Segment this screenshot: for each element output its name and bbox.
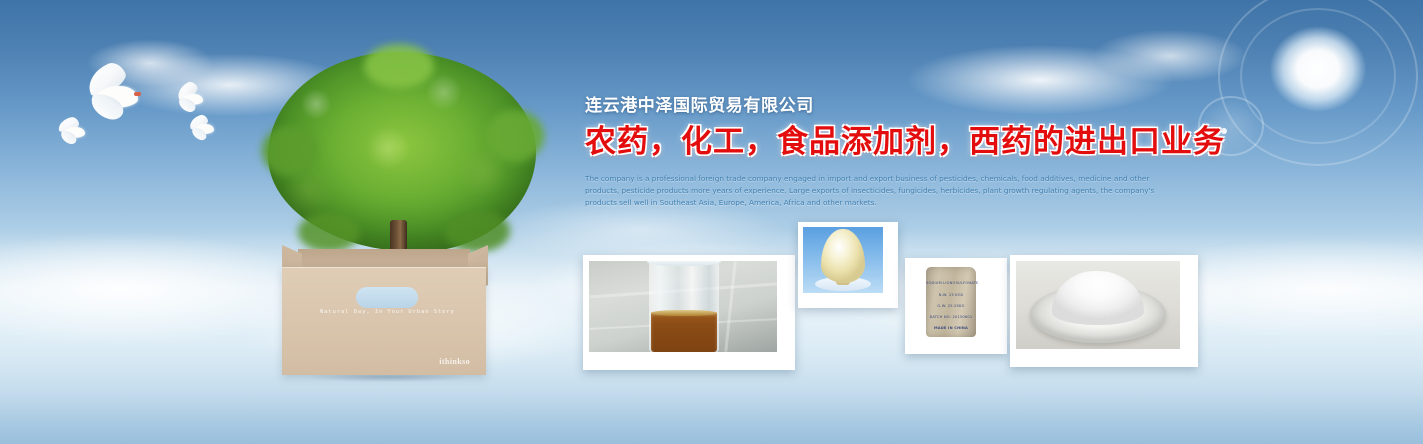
dove-small-lower-icon [54, 118, 88, 144]
bag-label-made-in-china: MADE IN CHINA [926, 326, 976, 330]
photo-image-kraft-bag: SODIUM LIGNOSULFONATE N.W. 25 KGS G.W. 2… [910, 263, 992, 339]
cloud-top-left [60, 15, 400, 135]
tree-leaf-cluster [364, 44, 434, 88]
dove-small-right-icon [186, 116, 216, 140]
bag-label-line: G.W. 25.25KG [926, 304, 976, 308]
banner-text-block: 连云港中泽国际贸易有限公司 农药，化工，食品添加剂，西药的进出口业务 The c… [585, 96, 1195, 208]
sun-icon [1228, 0, 1408, 144]
banner-description: The company is a professional foreign tr… [585, 173, 1181, 208]
liquid-surface [651, 310, 717, 316]
product-photo-yellow-powder[interactable] [798, 222, 898, 308]
product-photo-white-powder[interactable] [1010, 255, 1198, 367]
cardboard-box: Natural Day, In Your Urban Story ithinks… [272, 245, 496, 375]
product-photo-brown-liquid-jar[interactable] [583, 255, 795, 370]
photo-image-yellow-powder [803, 227, 883, 293]
bag-label-line: N.W. 25 KGS [926, 293, 976, 297]
dove-large-icon [78, 68, 150, 124]
lens-flare-ring-inner [1240, 8, 1396, 144]
tree-leaf-cluster [262, 126, 318, 176]
bag-label-line: SODIUM LIGNOSULFONATE [926, 281, 976, 285]
bag-label-line: BATCH NO: 20150601 [926, 315, 976, 319]
box-handle-cutout [356, 287, 418, 308]
product-photo-kraft-bag[interactable]: SODIUM LIGNOSULFONATE N.W. 25 KGS G.W. 2… [905, 258, 1007, 354]
green-tree [268, 52, 536, 267]
white-powder-pile [1052, 271, 1144, 325]
tree-leaf-cluster [486, 110, 544, 162]
brown-liquid [651, 313, 717, 352]
box-slogan: Natural Day, In Your Urban Story [320, 309, 455, 315]
dove-small-upper-icon [172, 84, 206, 112]
lens-flare-ring-outer [1218, 0, 1418, 166]
tree-canopy [268, 52, 536, 252]
yellow-powder-pile [821, 229, 865, 283]
box-front-panel: Natural Day, In Your Urban Story ithinks… [282, 267, 486, 375]
hero-banner: Natural Day, In Your Urban Story ithinks… [0, 0, 1423, 444]
company-name: 连云港中泽国际贸易有限公司 [585, 96, 1195, 116]
box-brand-logo: ithinkso [439, 357, 470, 366]
photo-image-white-powder [1016, 261, 1180, 349]
photo-image-brown-liquid [589, 261, 777, 352]
woven-bag: SODIUM LIGNOSULFONATE N.W. 25 KGS G.W. 2… [926, 267, 976, 337]
banner-headline: 农药，化工，食品添加剂，西药的进出口业务 [585, 124, 1195, 161]
